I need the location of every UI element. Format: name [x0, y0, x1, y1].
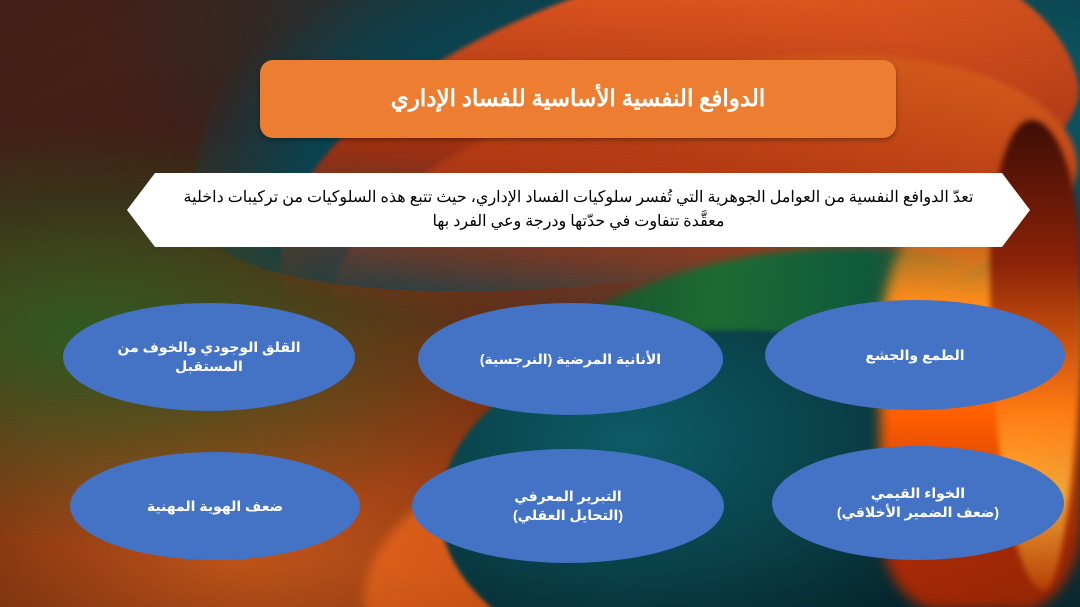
intro-line-1: تعدّ الدوافع النفسية من العوامل الجوهرية… — [184, 189, 974, 206]
oval-narcissism-line-1: الأنانية المرضية (النرجسية) — [480, 350, 661, 369]
oval-existential-anxiety[interactable]: القلق الوجودي والخوف من المستقبل — [63, 303, 355, 411]
oval-existential-anxiety-line-2: المستقبل — [118, 357, 301, 376]
oval-weak-professional-identity[interactable]: ضعف الهوية المهنية — [70, 452, 360, 560]
intro-callout-box: تعدّ الدوافع النفسية من العوامل الجوهرية… — [127, 173, 1030, 247]
oval-value-emptiness-line-2: (ضعف الضمير الأخلاقي) — [837, 503, 999, 522]
oval-value-emptiness-label: الخواء القيمي (ضعف الضمير الأخلاقي) — [837, 484, 999, 522]
oval-value-emptiness-line-1: الخواء القيمي — [837, 484, 999, 503]
oval-greed-label: الطمع والجشع — [865, 346, 964, 365]
oval-cognitive-rationalization-line-2: (التحايل العقلي) — [513, 506, 623, 525]
intro-line-2: معقَّدة تتفاوت في حدّتها ودرجة وعي الفرد… — [433, 213, 725, 230]
oval-cognitive-rationalization-line-1: التبرير المعرفي — [513, 487, 623, 506]
oval-existential-anxiety-line-1: القلق الوجودي والخوف من — [118, 338, 301, 357]
oval-existential-anxiety-label: القلق الوجودي والخوف من المستقبل — [118, 338, 301, 376]
oval-value-emptiness[interactable]: الخواء القيمي (ضعف الضمير الأخلاقي) — [772, 446, 1064, 560]
oval-greed-line-1: الطمع والجشع — [865, 346, 964, 365]
oval-cognitive-rationalization[interactable]: التبرير المعرفي (التحايل العقلي) — [412, 449, 724, 563]
oval-cognitive-rationalization-label: التبرير المعرفي (التحايل العقلي) — [513, 487, 623, 525]
oval-greed[interactable]: الطمع والجشع — [765, 300, 1065, 410]
oval-narcissism[interactable]: الأنانية المرضية (النرجسية) — [418, 303, 723, 415]
intro-paragraph: تعدّ الدوافع النفسية من العوامل الجوهرية… — [127, 186, 1030, 234]
oval-weak-professional-identity-line-1: ضعف الهوية المهنية — [147, 497, 283, 516]
slide-title-bar: الدوافع النفسية الأساسية للفساد الإداري — [260, 60, 896, 138]
oval-weak-professional-identity-label: ضعف الهوية المهنية — [147, 497, 283, 516]
presentation-slide: الدوافع النفسية الأساسية للفساد الإداري … — [0, 0, 1080, 607]
oval-narcissism-label: الأنانية المرضية (النرجسية) — [480, 350, 661, 369]
slide-title: الدوافع النفسية الأساسية للفساد الإداري — [391, 84, 766, 114]
